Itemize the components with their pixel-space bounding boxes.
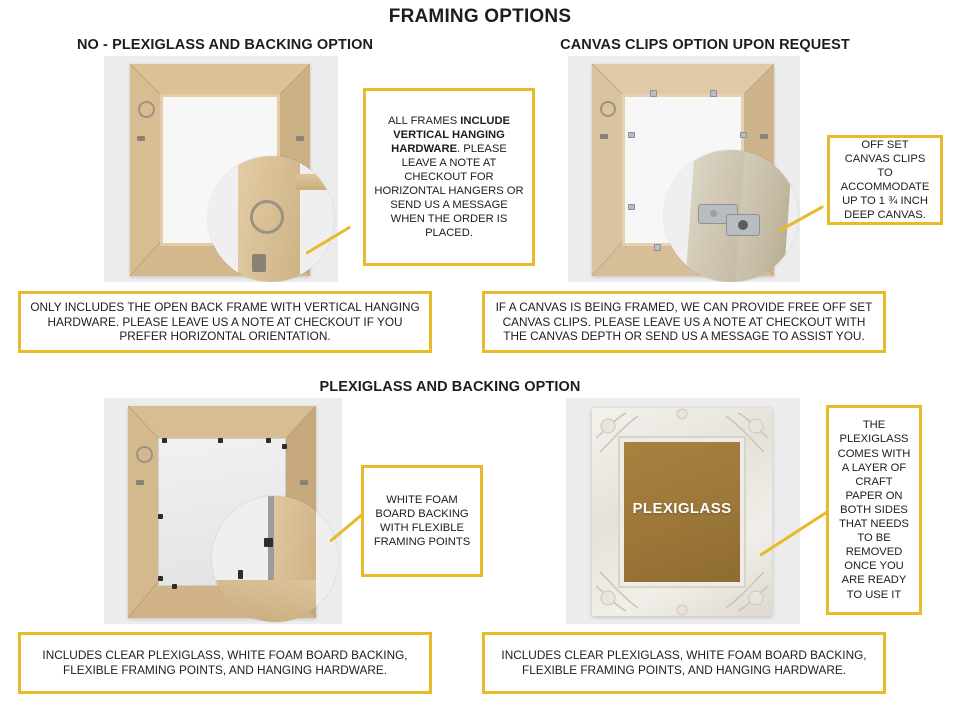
caption-text: IF A CANVAS IS BEING FRAMED, WE CAN PROV… [493,300,875,345]
photo-canvas-clips-frame [568,56,800,282]
framing-point-icon [218,438,223,443]
framing-point-icon [266,438,271,443]
d-ring-icon [600,101,616,117]
caption-canvas-clips: IF A CANVAS IS BEING FRAMED, WE CAN PROV… [482,291,886,353]
callout-text-part1: ALL FRAMES [388,115,460,127]
caption-plexiglass-backing-right: INCLUDES CLEAR PLEXIGLASS, WHITE FOAM BO… [482,632,886,694]
plexiglass-overlay-label: PLEXIGLASS [624,500,740,517]
hanger-hook-icon [600,134,608,139]
section-title-no-plexiglass: NO - PLEXIGLASS AND BACKING OPTION [0,37,450,53]
hanger-hook-icon [760,134,768,139]
hanger-hook-icon [296,136,304,141]
caption-text: INCLUDES CLEAR PLEXIGLASS, WHITE FOAM BO… [493,648,875,678]
canvas-clip-icon [628,204,635,210]
d-ring-icon [136,446,153,463]
canvas-clip-icon [650,90,657,97]
hanger-hook-icon [136,480,144,485]
d-ring-icon [138,101,155,118]
canvas-clip-icon [654,244,661,251]
callout-craft-paper: THE PLEXIGLASS COMES WITH A LAYER OF CRA… [826,405,922,615]
magnifier-inset-framing-point [212,496,338,622]
callout-hanging-hardware: ALL FRAMES INCLUDE VERTICAL HANGING HARD… [363,88,535,266]
framing-point-icon [158,514,163,519]
photo-open-back-frame [104,56,338,282]
canvas-clip-icon [628,132,635,138]
craft-paper-plexiglass: PLEXIGLASS [624,442,740,582]
framing-point-icon [172,584,177,589]
canvas-clip-icon [710,90,717,97]
callout-text: WHITE FOAM BOARD BACKING WITH FLEXIBLE F… [372,493,472,549]
callout-offset-canvas-clips: OFF SET CANVAS CLIPS TO ACCOMMODATE UP T… [827,135,943,225]
callout-text: THE PLEXIGLASS COMES WITH A LAYER OF CRA… [837,418,911,601]
canvas-clip-icon [740,132,747,138]
section-title-canvas-clips: CANVAS CLIPS OPTION UPON REQUEST [480,37,930,53]
photo-backing-frame [104,398,342,624]
caption-text: INCLUDES CLEAR PLEXIGLASS, WHITE FOAM BO… [29,648,421,678]
page-title: FRAMING OPTIONS [0,6,960,28]
infographic-page: FRAMING OPTIONS NO - PLEXIGLASS AND BACK… [0,0,960,720]
caption-plexiglass-backing-left: INCLUDES CLEAR PLEXIGLASS, WHITE FOAM BO… [18,632,432,694]
callout-foam-board-backing: WHITE FOAM BOARD BACKING WITH FLEXIBLE F… [361,465,483,577]
framing-point-icon [158,576,163,581]
framing-point-icon [162,438,167,443]
caption-open-back-frame: ONLY INCLUDES THE OPEN BACK FRAME WITH V… [18,291,432,353]
hanger-hook-icon [300,480,308,485]
callout-text: OFF SET CANVAS CLIPS TO ACCOMMODATE UP T… [838,138,932,223]
section-title-plexiglass-backing: PLEXIGLASS AND BACKING OPTION [180,379,720,395]
caption-text: ONLY INCLUDES THE OPEN BACK FRAME WITH V… [29,300,421,345]
hanger-hook-icon [137,136,145,141]
framing-point-icon [282,444,287,449]
callout-text-part2: . PLEASE LEAVE A NOTE AT CHECKOUT FOR HO… [374,143,523,240]
